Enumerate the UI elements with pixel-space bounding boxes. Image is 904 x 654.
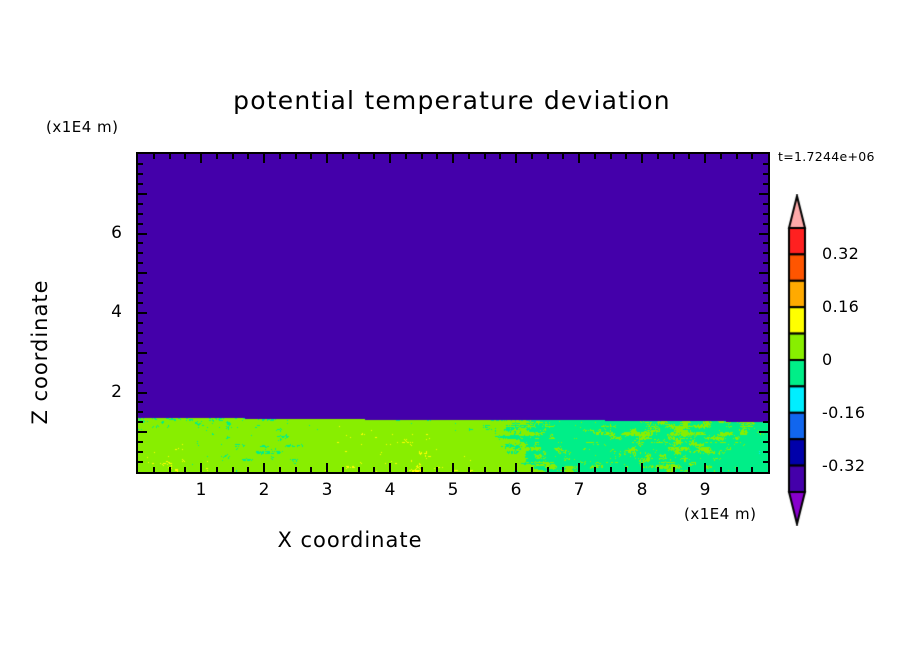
x-tick-major-top <box>326 154 328 163</box>
x-tick-minor <box>484 467 486 472</box>
y-tick-minor <box>138 242 143 244</box>
x-tick-minor <box>405 467 407 472</box>
x-tick-minor <box>232 467 234 472</box>
y-tick-minor-right <box>763 401 768 403</box>
colorbar-tick-label: -0.32 <box>822 456 865 475</box>
x-tick-minor-top <box>688 154 690 159</box>
y-tick-minor-right <box>763 282 768 284</box>
y-tick-minor <box>138 282 143 284</box>
y-tick-minor-right <box>763 252 768 254</box>
x-tick-major <box>515 463 517 472</box>
x-tick-minor <box>295 467 297 472</box>
y-tick-minor-right <box>763 461 768 463</box>
x-tick-minor <box>499 467 501 472</box>
y-tick-minor-right <box>763 372 768 374</box>
time-annotation: t=1.7244e+06 <box>778 149 875 164</box>
x-tick-minor-top <box>153 154 155 159</box>
y-tick-label: 6 <box>96 223 122 243</box>
x-axis-unit-label: (x1E4 m) <box>684 505 757 523</box>
x-tick-minor <box>184 467 186 472</box>
y-tick-minor <box>138 362 143 364</box>
x-tick-minor-top <box>547 154 549 159</box>
x-tick-minor-top <box>184 154 186 159</box>
y-tick-minor <box>138 292 143 294</box>
x-tick-minor <box>169 467 171 472</box>
x-tick-minor-top <box>751 154 753 159</box>
y-axis-title: Z coordinate <box>28 252 52 452</box>
colorbar <box>782 194 812 526</box>
y-tick-minor-right <box>763 302 768 304</box>
x-tick-minor-top <box>484 154 486 159</box>
y-tick-minor-right <box>763 213 768 215</box>
y-tick-minor-right <box>763 183 768 185</box>
colorbar-tick-label: 0 <box>822 350 833 369</box>
x-tick-minor-top <box>531 154 533 159</box>
y-tick-minor <box>138 411 143 413</box>
y-tick-minor-right <box>763 242 768 244</box>
y-tick-minor-right <box>763 292 768 294</box>
y-tick-minor <box>138 213 143 215</box>
colorbar-gradient <box>782 194 812 526</box>
x-tick-major-top <box>263 154 265 163</box>
x-tick-minor <box>625 467 627 472</box>
y-tick-minor <box>138 322 143 324</box>
y-tick-minor <box>138 252 143 254</box>
x-tick-minor <box>468 467 470 472</box>
x-tick-minor <box>358 467 360 472</box>
x-tick-minor-top <box>720 154 722 159</box>
figure-root: potential temperature deviation (x1E4 m)… <box>0 0 904 654</box>
x-tick-minor <box>594 467 596 472</box>
x-tick-minor <box>373 467 375 472</box>
x-tick-minor-top <box>436 154 438 159</box>
x-tick-minor <box>436 467 438 472</box>
x-tick-minor <box>421 467 423 472</box>
y-tick-minor-right <box>763 203 768 205</box>
x-tick-major-top <box>389 154 391 163</box>
x-tick-major <box>263 463 265 472</box>
x-tick-minor-top <box>499 154 501 159</box>
x-tick-minor-top <box>358 154 360 159</box>
x-tick-minor-top <box>405 154 407 159</box>
y-tick-major <box>138 392 147 394</box>
colorbar-tick-label: -0.16 <box>822 403 865 422</box>
x-tick-major <box>704 463 706 472</box>
x-tick-minor <box>547 467 549 472</box>
x-tick-minor <box>247 467 249 472</box>
x-tick-minor <box>310 467 312 472</box>
x-tick-major <box>641 463 643 472</box>
y-tick-minor-right <box>763 322 768 324</box>
y-tick-minor <box>138 421 143 423</box>
y-tick-minor-right <box>763 421 768 423</box>
y-tick-major <box>138 352 147 354</box>
x-tick-minor-top <box>279 154 281 159</box>
x-tick-minor <box>688 467 690 472</box>
x-tick-minor-top <box>216 154 218 159</box>
x-tick-label: 1 <box>181 480 221 500</box>
x-tick-minor-top <box>295 154 297 159</box>
y-tick-minor <box>138 173 143 175</box>
x-tick-major-top <box>200 154 202 163</box>
x-tick-minor-top <box>247 154 249 159</box>
y-tick-minor <box>138 441 143 443</box>
temperature-deviation-field <box>138 154 768 472</box>
y-tick-major <box>138 193 147 195</box>
y-tick-minor <box>138 203 143 205</box>
x-tick-minor <box>531 467 533 472</box>
x-tick-minor <box>720 467 722 472</box>
y-tick-minor <box>138 451 143 453</box>
y-tick-minor <box>138 163 143 165</box>
x-tick-minor-top <box>610 154 612 159</box>
x-tick-minor-top <box>736 154 738 159</box>
x-tick-major <box>452 463 454 472</box>
y-tick-minor-right <box>763 262 768 264</box>
y-tick-minor-right <box>763 411 768 413</box>
y-tick-major-right <box>759 272 768 274</box>
colorbar-tick-label: 0.16 <box>822 297 859 316</box>
y-tick-minor <box>138 342 143 344</box>
y-tick-label: 2 <box>96 382 122 402</box>
y-tick-minor-right <box>763 382 768 384</box>
x-tick-minor-top <box>342 154 344 159</box>
x-tick-minor-top <box>673 154 675 159</box>
y-tick-minor-right <box>763 451 768 453</box>
y-axis-unit-label: (x1E4 m) <box>46 118 119 136</box>
y-tick-major <box>138 312 147 314</box>
x-tick-major-top <box>452 154 454 163</box>
x-tick-minor-top <box>232 154 234 159</box>
x-tick-minor <box>751 467 753 472</box>
x-tick-minor <box>610 467 612 472</box>
y-tick-major-right <box>759 392 768 394</box>
x-tick-minor <box>562 467 564 472</box>
x-tick-minor <box>279 467 281 472</box>
y-tick-minor-right <box>763 173 768 175</box>
x-tick-minor <box>736 467 738 472</box>
x-tick-minor <box>342 467 344 472</box>
x-tick-minor-top <box>421 154 423 159</box>
x-tick-minor <box>216 467 218 472</box>
y-tick-minor-right <box>763 332 768 334</box>
y-tick-minor <box>138 183 143 185</box>
y-tick-major-right <box>759 193 768 195</box>
x-tick-label: 8 <box>622 480 662 500</box>
y-tick-minor <box>138 401 143 403</box>
y-tick-major-right <box>759 352 768 354</box>
x-tick-minor-top <box>625 154 627 159</box>
y-tick-minor <box>138 302 143 304</box>
x-tick-label: 6 <box>496 480 536 500</box>
x-tick-minor <box>673 467 675 472</box>
x-tick-major-top <box>641 154 643 163</box>
y-tick-minor-right <box>763 163 768 165</box>
x-tick-major <box>200 463 202 472</box>
x-tick-label: 7 <box>559 480 599 500</box>
x-tick-major <box>578 463 580 472</box>
x-tick-major <box>326 463 328 472</box>
contour-plot-area <box>136 152 770 474</box>
y-tick-major <box>138 272 147 274</box>
x-tick-minor-top <box>594 154 596 159</box>
x-tick-label: 5 <box>433 480 473 500</box>
y-tick-minor <box>138 372 143 374</box>
x-tick-minor <box>153 467 155 472</box>
x-tick-major-top <box>704 154 706 163</box>
y-tick-minor <box>138 382 143 384</box>
x-tick-minor-top <box>373 154 375 159</box>
y-tick-minor <box>138 461 143 463</box>
x-tick-label: 3 <box>307 480 347 500</box>
y-tick-minor <box>138 223 143 225</box>
y-tick-major <box>138 233 147 235</box>
x-tick-minor-top <box>468 154 470 159</box>
y-tick-minor-right <box>763 342 768 344</box>
x-tick-minor-top <box>562 154 564 159</box>
chart-title: potential temperature deviation <box>0 86 904 115</box>
x-tick-label: 2 <box>244 480 284 500</box>
y-tick-minor-right <box>763 362 768 364</box>
x-tick-major-top <box>515 154 517 163</box>
y-tick-major-right <box>759 233 768 235</box>
x-tick-minor-top <box>169 154 171 159</box>
y-tick-minor-right <box>763 441 768 443</box>
x-tick-minor-top <box>310 154 312 159</box>
x-tick-minor-top <box>657 154 659 159</box>
y-tick-major-right <box>759 312 768 314</box>
y-tick-minor-right <box>763 223 768 225</box>
y-tick-major <box>138 431 147 433</box>
y-tick-minor <box>138 332 143 334</box>
y-tick-minor <box>138 262 143 264</box>
colorbar-tick-label: 0.32 <box>822 244 859 263</box>
x-tick-minor <box>657 467 659 472</box>
x-tick-major-top <box>578 154 580 163</box>
y-tick-major-right <box>759 431 768 433</box>
x-tick-major <box>389 463 391 472</box>
y-tick-label: 4 <box>96 302 122 322</box>
x-tick-label: 4 <box>370 480 410 500</box>
x-axis-title: X coordinate <box>0 528 700 552</box>
x-tick-label: 9 <box>685 480 725 500</box>
